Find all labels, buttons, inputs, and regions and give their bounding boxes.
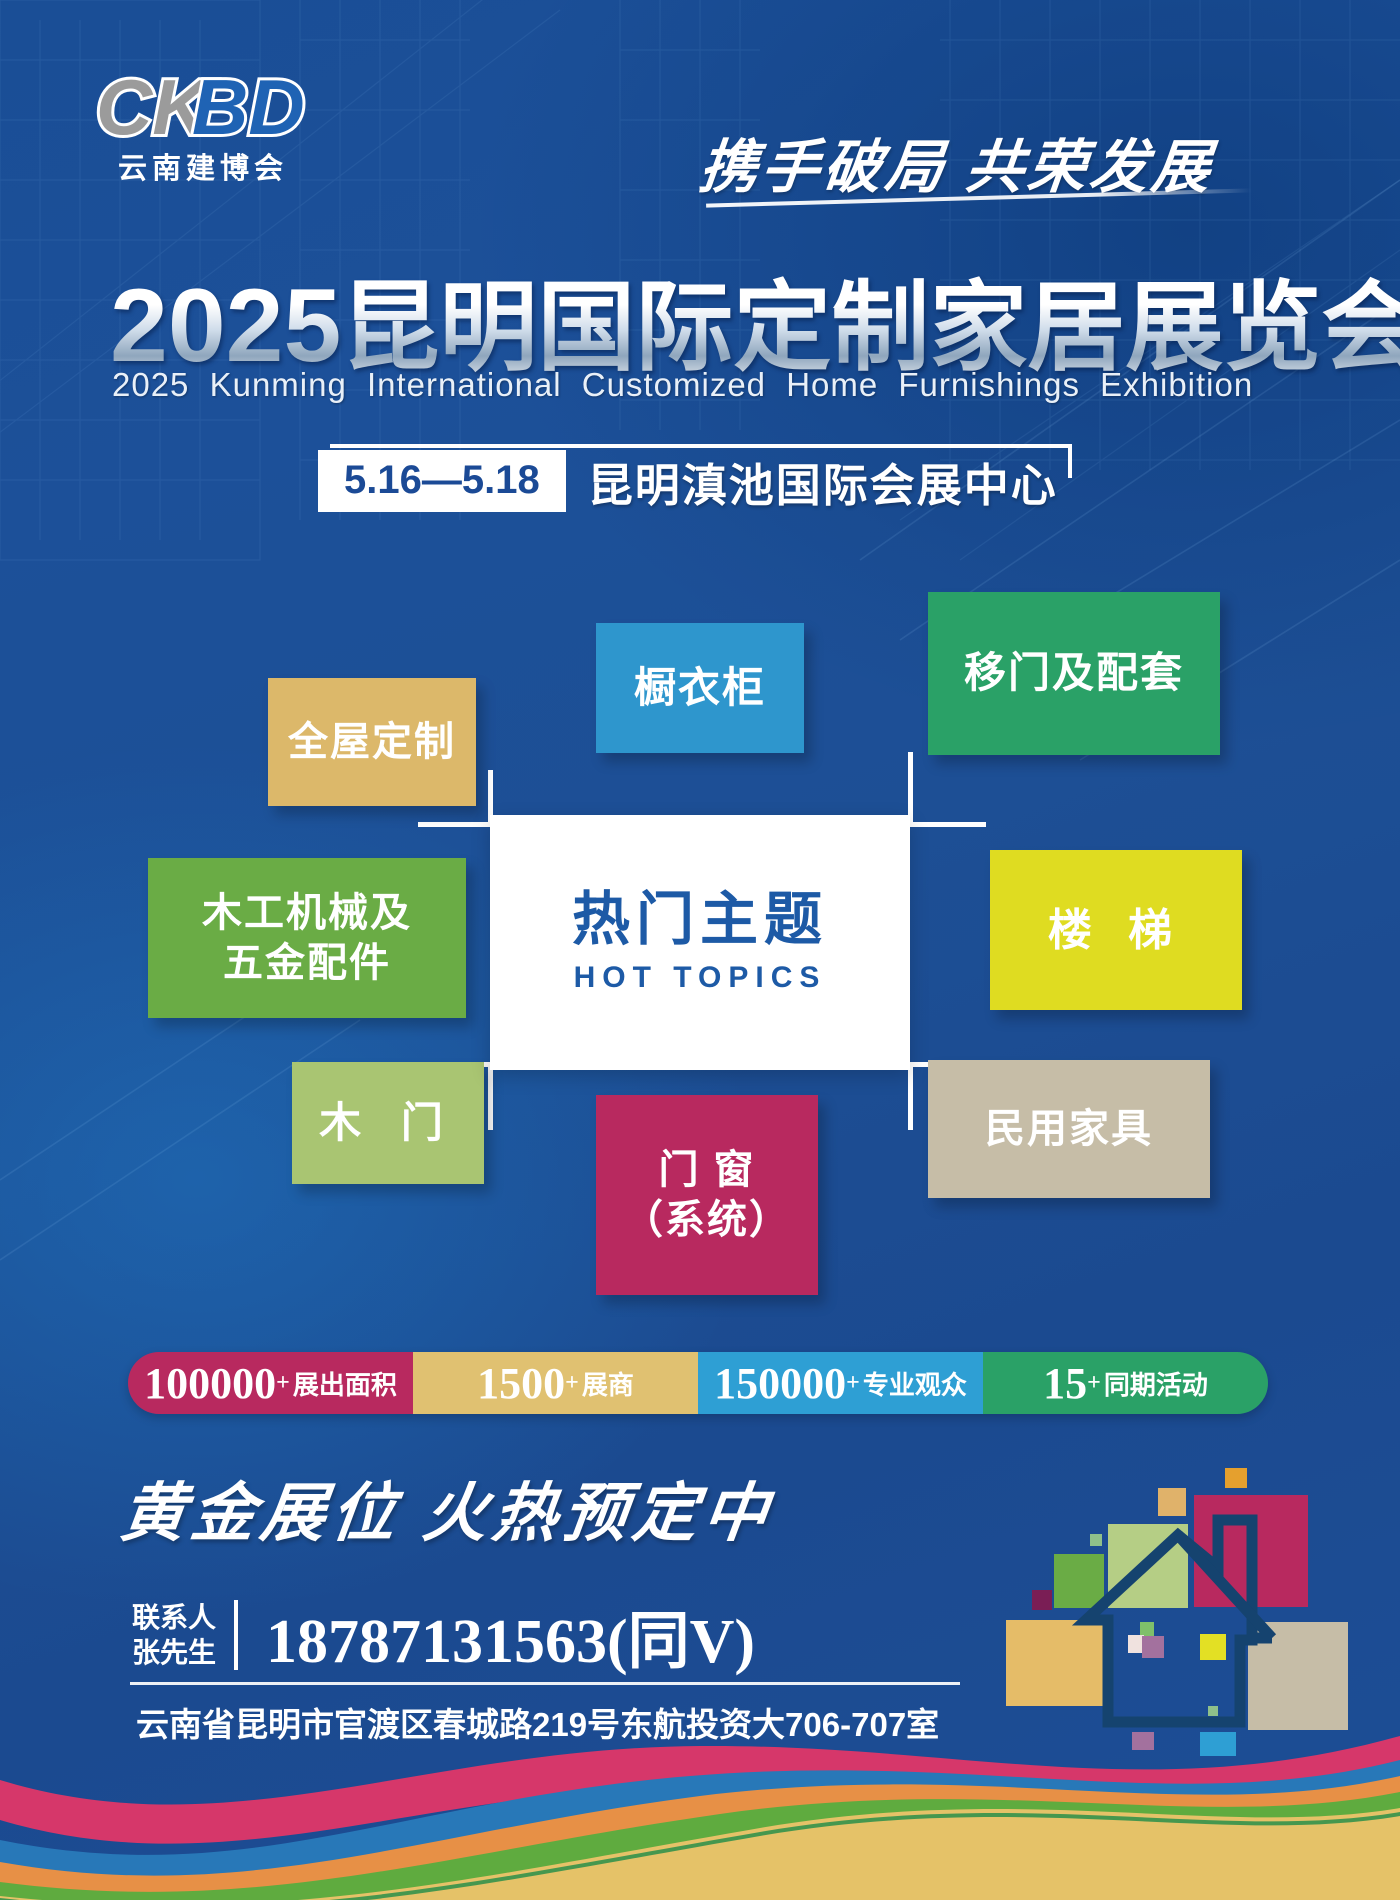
tile-louti[interactable]: 楼 梯	[990, 850, 1242, 1010]
tile-label-line1: 门 窗	[658, 1148, 755, 1192]
logo-subtitle: 云南建博会	[118, 152, 288, 185]
stat-plus: +	[276, 1370, 290, 1397]
stat-item-visitors: 150000+专业观众	[698, 1352, 983, 1414]
connector-top-right-horizontal	[906, 822, 986, 827]
contact-divider	[130, 1682, 960, 1685]
stat-item-events: 15+同期活动	[983, 1352, 1268, 1414]
tile-label: 木 门	[319, 1097, 457, 1150]
bottom-wave-decoration	[0, 1720, 1400, 1900]
stat-plus: +	[846, 1370, 860, 1397]
connector-bottom-right-vertical	[908, 1062, 913, 1130]
contact-label-line2: 张先生	[132, 1635, 216, 1670]
stat-plus: +	[565, 1370, 579, 1397]
hot-topics-diagram: 全屋定制 橱衣柜 移门及配套 木工机械及 五金配件 楼 梯 木 门 门 窗 （系…	[0, 610, 1400, 1310]
tile-label: 橱衣柜	[634, 662, 766, 715]
contact-label-line1: 联系人	[132, 1600, 216, 1635]
tile-chuyigui[interactable]: 橱衣柜	[596, 623, 804, 753]
stat-label: 同期活动	[1104, 1365, 1208, 1402]
stat-number: 150000	[714, 1358, 846, 1409]
tile-mugong-jixie[interactable]: 木工机械及 五金配件	[148, 858, 466, 1018]
title-english: 2025 Kunming International Customized Ho…	[112, 366, 1253, 404]
tile-menchuang[interactable]: 门 窗 （系统）	[596, 1095, 818, 1295]
stat-label: 展商	[582, 1365, 634, 1402]
stats-bar: 100000+展出面积 1500+展商 150000+专业观众 15+同期活动	[128, 1352, 1268, 1414]
connector-top-left-horizontal	[418, 822, 496, 827]
hot-topics-title-en: HOT TOPICS	[574, 961, 827, 995]
date-venue-bar: 5.16—5.18 昆明滇池国际会展中心	[318, 450, 1070, 512]
tile-quanwu-dingzhi[interactable]: 全屋定制	[268, 678, 476, 806]
hot-topics-title-cn: 热门主题	[572, 890, 828, 951]
tile-label: 移门及配套	[964, 647, 1184, 700]
connector-bottom-left-vertical	[488, 1062, 493, 1130]
tile-label-line2: 五金配件	[223, 941, 391, 985]
tile-label: 楼 梯	[1048, 903, 1184, 958]
stat-label: 展出面积	[293, 1365, 397, 1402]
tile-label-line1: 木工机械及	[202, 891, 412, 935]
logo-mark-bd: BD	[192, 63, 305, 151]
stat-number: 100000	[144, 1358, 276, 1409]
tile-label: 木工机械及 五金配件	[202, 888, 412, 988]
contact-person-label: 联系人 张先生	[132, 1600, 238, 1670]
booking-slogan: 黄金展位 火热预定中	[116, 1462, 779, 1554]
tile-label: 门 窗 （系统）	[623, 1145, 791, 1245]
tile-label: 民用家具	[985, 1104, 1153, 1154]
tile-minyong-jiaju[interactable]: 民用家具	[928, 1060, 1210, 1198]
tile-label: 全屋定制	[288, 717, 456, 767]
tile-mumen[interactable]: 木 门	[292, 1062, 484, 1184]
stat-label: 专业观众	[863, 1365, 967, 1402]
contact-row: 联系人 张先生 18787131563(同V)	[132, 1590, 755, 1680]
stat-plus: +	[1087, 1370, 1101, 1397]
contact-phone[interactable]: 18787131563(同V)	[238, 1590, 755, 1680]
date-chip: 5.16—5.18	[318, 450, 566, 512]
venue-label: 昆明滇池国际会展中心	[566, 450, 1070, 512]
poster-root: CK CK BD BD 云南建博会 携手破局 共荣发展 2025昆明国际定制家居…	[0, 0, 1400, 1900]
stat-item-exhibitors: 1500+展商	[413, 1352, 698, 1414]
tile-yimen-peitao[interactable]: 移门及配套	[928, 592, 1220, 755]
ckbd-logo: CK CK BD BD 云南建博会	[96, 62, 336, 190]
tile-label-line2: （系统）	[623, 1198, 791, 1242]
stat-number: 1500	[477, 1358, 565, 1409]
stat-number: 15	[1043, 1358, 1087, 1409]
stat-item-exhibit-area: 100000+展出面积	[128, 1352, 413, 1414]
hot-topics-center-card: 热门主题 HOT TOPICS	[490, 815, 910, 1070]
